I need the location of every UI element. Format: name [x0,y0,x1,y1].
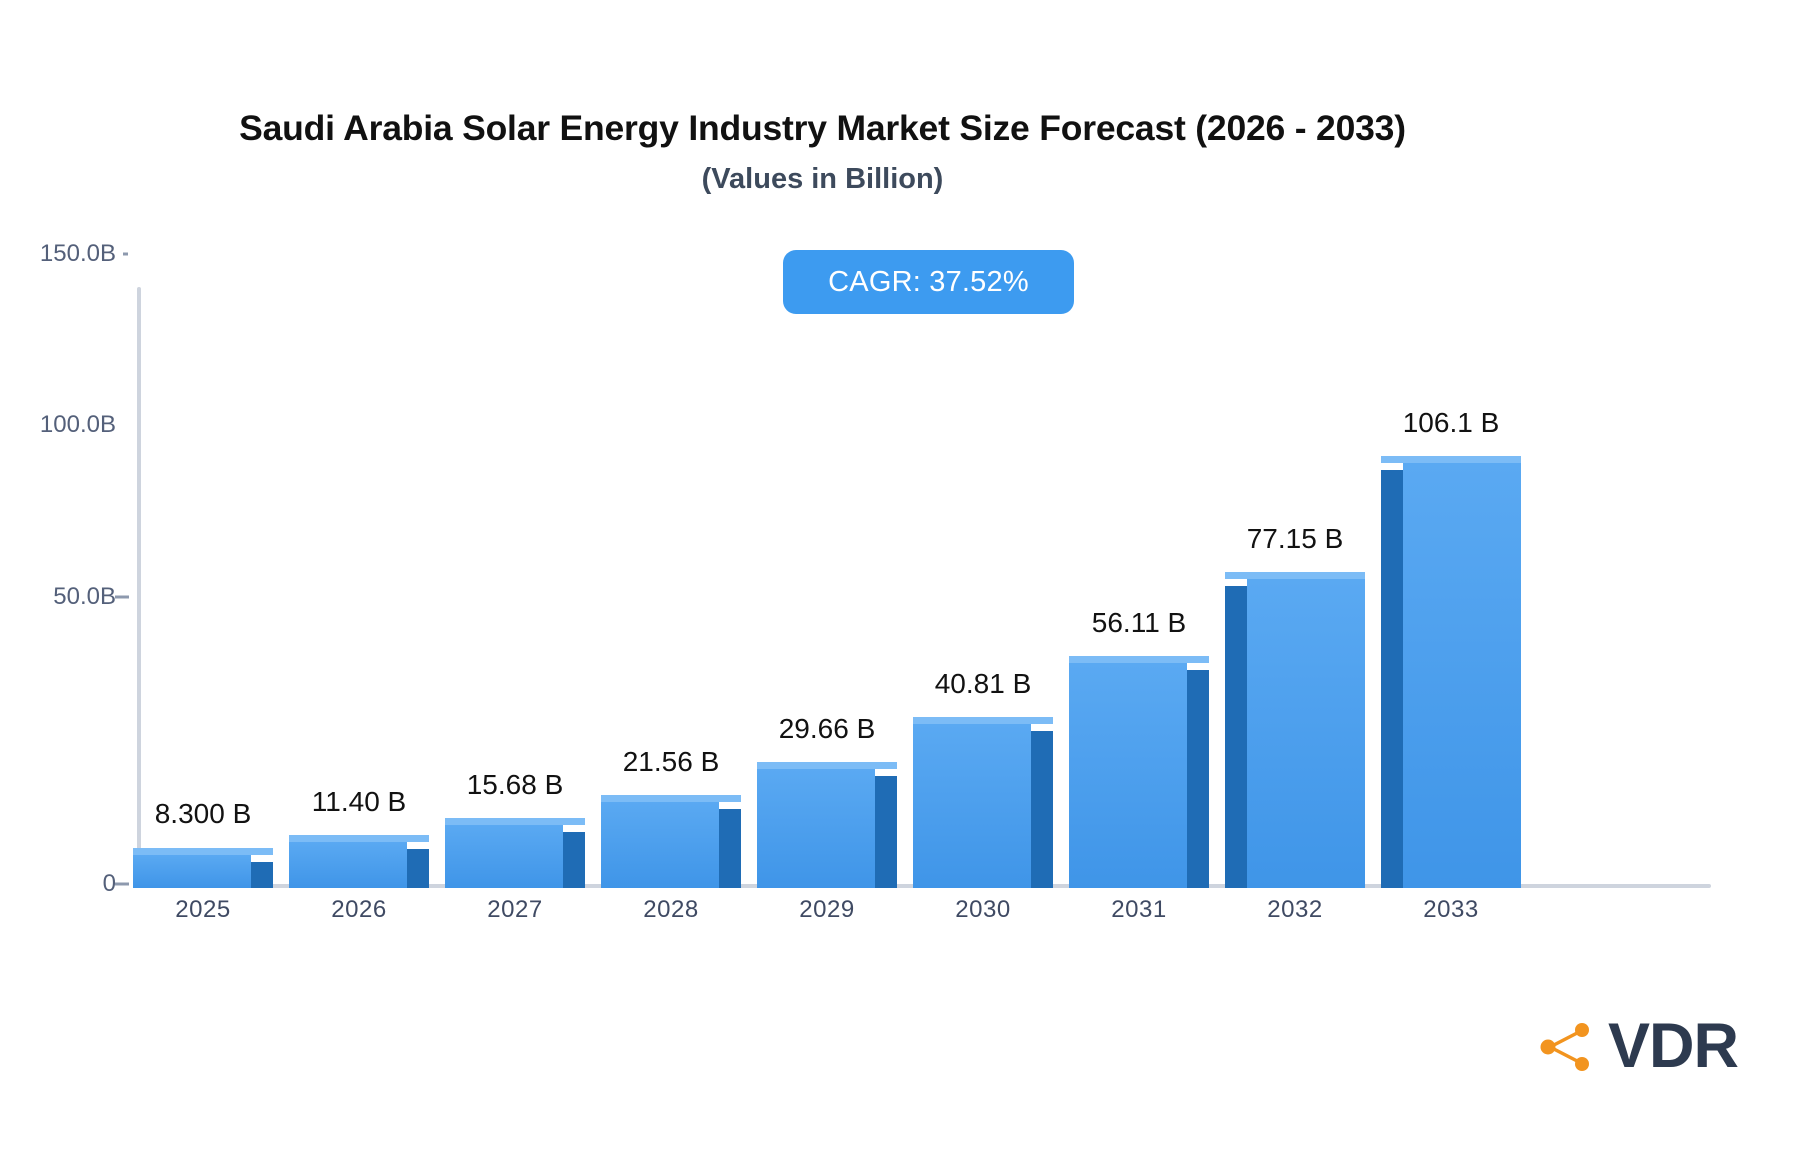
bar-top-2030 [913,717,1053,724]
bar-side-2030 [1031,731,1053,888]
bar-top-2028 [601,795,741,802]
x-label-2033: 2033 [1381,896,1521,924]
bar-group-2030[interactable]: 40.81 B [913,724,1053,888]
vdr-logo: VDR [1534,1015,1738,1078]
bar-side-2025 [251,862,273,888]
bar-side-2032 [1225,586,1247,888]
bar-group-2031[interactable]: 56.11 B [1069,663,1209,888]
bar-face-2026 [289,842,407,888]
bar-value-2032: 77.15 B [1247,523,1344,555]
bar-group-2027[interactable]: 15.68 B [445,825,585,888]
y-tick-label-50: 50.0B [53,583,116,611]
bar-side-2033 [1381,470,1403,888]
bar-value-2026: 11.40 B [312,786,406,818]
bar-group-2026[interactable]: 11.40 B [289,842,429,888]
bar-2026[interactable] [289,842,429,888]
y-axis-line [137,287,141,887]
y-tick-mark-50 [115,596,129,599]
bar-group-2025[interactable]: 8.300 B [133,855,273,888]
bar-side-2028 [719,809,741,888]
bar-value-2025: 8.300 B [155,798,252,830]
vdr-logo-text: VDR [1608,1015,1738,1078]
share-nodes-icon [1534,1016,1596,1078]
y-tick-mark-150 [123,253,128,256]
bar-face-2032 [1247,579,1365,888]
bar-face-2030 [913,724,1031,888]
bar-group-2032[interactable]: 77.15 B [1225,579,1365,888]
x-label-2025: 2025 [133,896,273,924]
bar-2027[interactable] [445,825,585,888]
bar-2025[interactable] [133,855,273,888]
y-tick-label-150: 150.0B [40,240,116,268]
bar-face-2028 [601,802,719,888]
bar-value-2030: 40.81 B [935,668,1032,700]
bar-top-2027 [445,818,585,825]
y-tick-label-100: 100.0B [40,411,116,439]
bar-side-2029 [875,776,897,888]
x-label-2030: 2030 [913,896,1053,924]
bar-face-2025 [133,855,251,888]
bar-value-2031: 56.11 B [1092,607,1186,639]
bar-face-2029 [757,769,875,888]
bar-2033[interactable] [1381,463,1521,888]
bar-top-2029 [757,762,897,769]
x-label-2029: 2029 [757,896,897,924]
bar-value-2028: 21.56 B [623,746,720,778]
bar-2029[interactable] [757,769,897,888]
plot-area: 150.0B 100.0B 50.0B 0 8.300 B 2025 11.40… [0,0,1800,1156]
bar-side-2026 [407,849,429,888]
bar-top-2025 [133,848,273,855]
bar-value-2027: 15.68 B [467,769,564,801]
y-tick-label-0: 0 [103,870,116,898]
bar-face-2031 [1069,663,1187,888]
bar-group-2029[interactable]: 29.66 B [757,769,897,888]
x-label-2031: 2031 [1069,896,1209,924]
bar-side-2027 [563,832,585,888]
bar-top-2033 [1381,456,1521,463]
bar-2028[interactable] [601,802,741,888]
bar-2032[interactable] [1225,579,1365,888]
y-tick-mark-0 [115,883,129,886]
bar-top-2031 [1069,656,1209,663]
bar-2031[interactable] [1069,663,1209,888]
bar-face-2033 [1403,463,1521,888]
bar-face-2027 [445,825,563,888]
bar-top-2026 [289,835,429,842]
x-label-2028: 2028 [601,896,741,924]
bar-2030[interactable] [913,724,1053,888]
bar-group-2028[interactable]: 21.56 B [601,802,741,888]
chart-container: Saudi Arabia Solar Energy Industry Marke… [0,0,1800,1156]
x-label-2027: 2027 [445,896,585,924]
x-label-2026: 2026 [289,896,429,924]
bar-value-2033: 106.1 B [1403,407,1500,439]
x-label-2032: 2032 [1225,896,1365,924]
bar-group-2033[interactable]: 106.1 B [1381,463,1521,888]
bar-value-2029: 29.66 B [779,713,876,745]
bar-top-2032 [1225,572,1365,579]
bar-side-2031 [1187,670,1209,888]
